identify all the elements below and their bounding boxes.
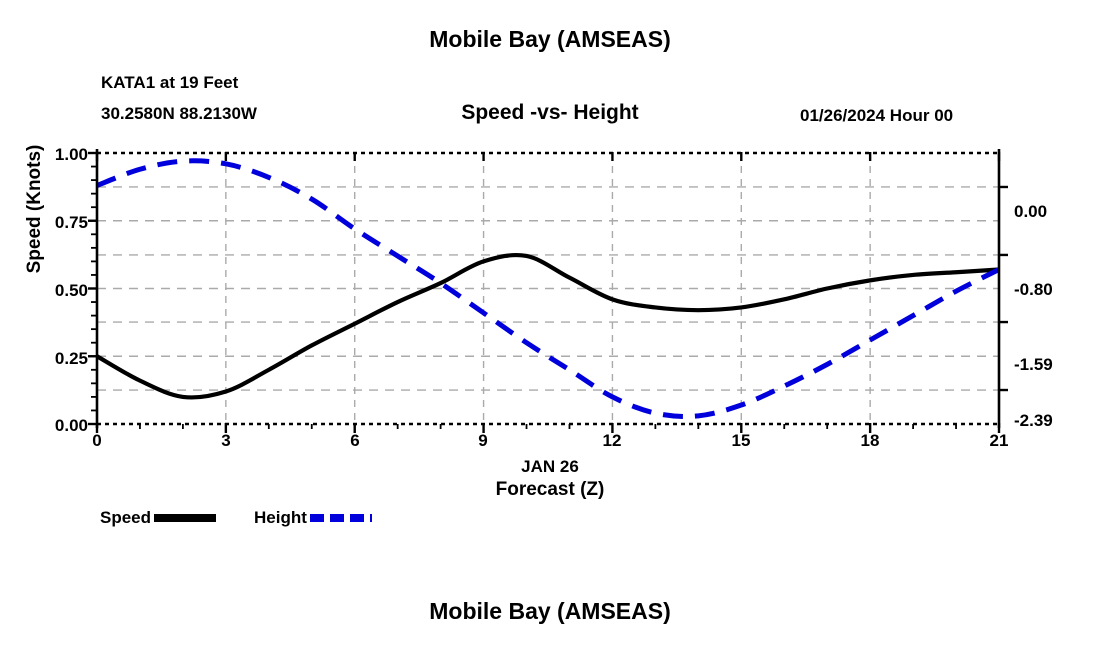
legend-label-speed: Speed (100, 508, 151, 528)
legend-swatch-height-icon (310, 514, 372, 522)
legend-item-height: Height (254, 508, 372, 528)
chart-figure: Mobile Bay (AMSEAS) KATA1 at 19 Feet 30.… (0, 0, 1100, 650)
legend-item-speed: Speed (100, 508, 216, 528)
legend-swatch-speed-icon (154, 514, 216, 522)
legend-label-height: Height (254, 508, 307, 528)
footer-title: Mobile Bay (AMSEAS) (0, 600, 1100, 623)
chart-legend: Speed Height (100, 508, 372, 528)
plot-area (0, 0, 1100, 650)
series-line-speed (97, 255, 999, 397)
